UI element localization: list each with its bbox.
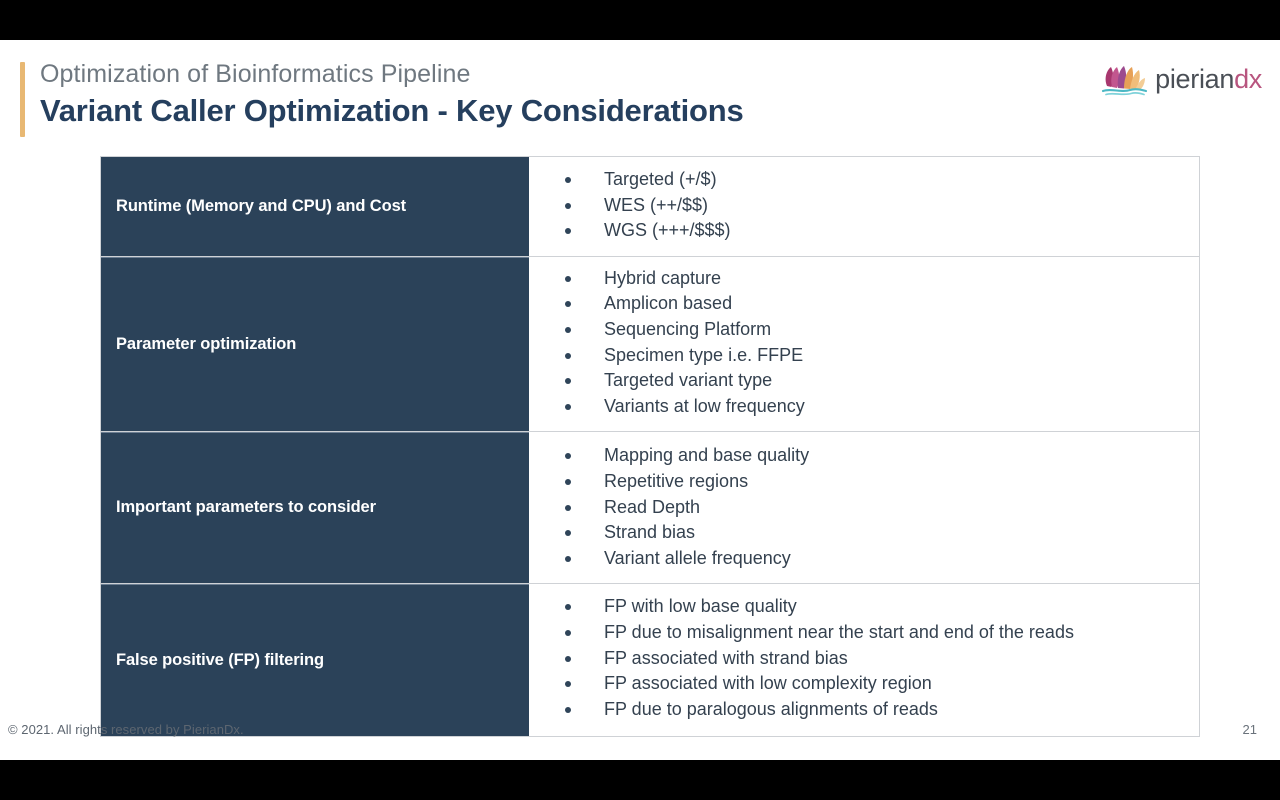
bullet-list: Hybrid capture Amplicon based Sequencing…: [529, 266, 1199, 420]
presentation-slide: Optimization of Bioinformatics Pipeline …: [0, 40, 1280, 760]
lotus-flower-logo: [1100, 60, 1148, 98]
slide-footer: © 2021. All rights reserved by PierianDx…: [0, 714, 1280, 760]
list-item: FP with low base quality: [529, 594, 1199, 620]
table-row: Important parameters to consider Mapping…: [101, 431, 1199, 583]
title-accent-bar: [20, 62, 25, 137]
list-item: Variants at low frequency: [529, 394, 1199, 420]
slide-subtitle: Optimization of Bioinformatics Pipeline: [40, 58, 744, 90]
slide-canvas: Optimization of Bioinformatics Pipeline …: [0, 0, 1280, 800]
bullet-list: Mapping and base quality Repetitive regi…: [529, 443, 1199, 571]
list-item: Read Depth: [529, 495, 1199, 521]
wordmark-pierian: pierian: [1155, 64, 1234, 94]
list-item: WES (++/$$): [529, 193, 1199, 219]
list-item: Specimen type i.e. FFPE: [529, 343, 1199, 369]
list-item: Hybrid capture: [529, 266, 1199, 292]
list-item: Targeted (+/$): [529, 167, 1199, 193]
list-item: FP associated with low complexity region: [529, 671, 1199, 697]
row-details: Hybrid capture Amplicon based Sequencing…: [529, 257, 1199, 432]
page-number: 21: [1243, 722, 1257, 737]
list-item: Amplicon based: [529, 291, 1199, 317]
key-considerations-table: Runtime (Memory and CPU) and Cost Target…: [100, 156, 1200, 737]
letterbox-bar-bottom: [0, 760, 1280, 800]
slide-header: Optimization of Bioinformatics Pipeline …: [0, 40, 1280, 150]
list-item: Repetitive regions: [529, 469, 1199, 495]
row-label: Runtime (Memory and CPU) and Cost: [101, 157, 529, 256]
pieriandx-logo: pieriandx: [1100, 60, 1262, 98]
row-label: Parameter optimization: [101, 257, 529, 432]
list-item: Variant allele frequency: [529, 546, 1199, 572]
table-row: Parameter optimization Hybrid capture Am…: [101, 256, 1199, 432]
wordmark-dx: dx: [1234, 64, 1262, 94]
list-item: WGS (+++/$$$): [529, 218, 1199, 244]
copyright-notice: © 2021. All rights reserved by PierianDx…: [8, 722, 244, 737]
title-block: Optimization of Bioinformatics Pipeline …: [40, 58, 744, 131]
list-item: Targeted variant type: [529, 368, 1199, 394]
list-item: Sequencing Platform: [529, 317, 1199, 343]
bullet-list: FP with low base quality FP due to misal…: [529, 594, 1199, 722]
row-details: Mapping and base quality Repetitive regi…: [529, 432, 1199, 583]
pieriandx-wordmark: pieriandx: [1155, 66, 1262, 93]
list-item: FP due to misalignment near the start an…: [529, 620, 1199, 646]
row-details: Targeted (+/$) WES (++/$$) WGS (+++/$$$): [529, 157, 1199, 256]
row-label: Important parameters to consider: [101, 432, 529, 583]
letterbox-bar-top: [0, 0, 1280, 40]
page-title: Variant Caller Optimization - Key Consid…: [40, 91, 744, 131]
bullet-list: Targeted (+/$) WES (++/$$) WGS (+++/$$$): [529, 167, 1199, 244]
list-item: Mapping and base quality: [529, 443, 1199, 469]
list-item: Strand bias: [529, 520, 1199, 546]
table-row: Runtime (Memory and CPU) and Cost Target…: [101, 157, 1199, 256]
list-item: FP associated with strand bias: [529, 646, 1199, 672]
